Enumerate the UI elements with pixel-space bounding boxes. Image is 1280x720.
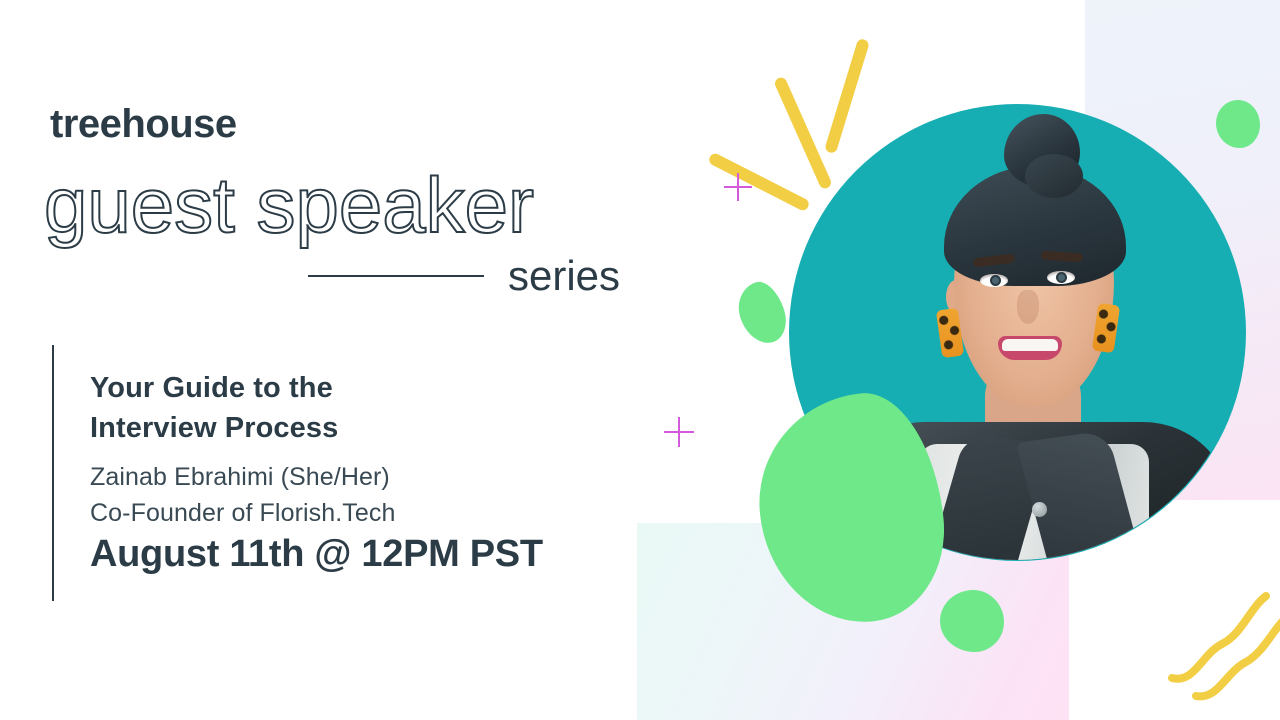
green-blob (940, 590, 1004, 652)
vertical-accent-rule (52, 345, 54, 601)
session-title-line-1: Your Guide to the (90, 368, 338, 408)
yellow-brush-burst (745, 35, 905, 225)
text-content: treehouse guest speaker series Your Guid… (0, 0, 660, 720)
portrait-teeth (1002, 339, 1058, 351)
portrait-pupil-right (1056, 272, 1067, 283)
series-divider-rule (308, 275, 484, 277)
promo-slide: treehouse guest speaker series Your Guid… (0, 0, 1280, 720)
portrait-mouth (998, 336, 1062, 360)
session-title-line-2: Interview Process (90, 408, 338, 448)
headline-outline: guest speaker (44, 166, 534, 244)
series-label: series (508, 255, 620, 297)
session-title: Your Guide to the Interview Process (90, 368, 338, 448)
series-row: series (308, 255, 620, 297)
brush-stroke (707, 152, 810, 213)
speaker-name: Zainab Ebrahimi (She/Her) (90, 459, 396, 495)
portrait-hair-bun-base (1025, 154, 1083, 198)
brand-wordmark: treehouse (50, 104, 237, 144)
magenta-plus-mark (664, 417, 694, 447)
magenta-plus-mark (724, 173, 752, 201)
brush-stroke (773, 76, 833, 191)
brush-stroke (824, 38, 870, 154)
speaker-block: Zainab Ebrahimi (She/Her) Co-Founder of … (90, 459, 396, 531)
wavy-line-icon (1168, 592, 1280, 702)
green-blob (1216, 100, 1260, 148)
portrait-nose (1017, 290, 1039, 324)
portrait-jacket-stud (1032, 502, 1047, 517)
green-blob (731, 277, 792, 350)
session-datetime: August 11th @ 12PM PST (90, 534, 543, 575)
speaker-role: Co-Founder of Florish.Tech (90, 495, 396, 531)
portrait-pupil-left (990, 275, 1001, 286)
yellow-wavy-lines (1168, 592, 1280, 702)
